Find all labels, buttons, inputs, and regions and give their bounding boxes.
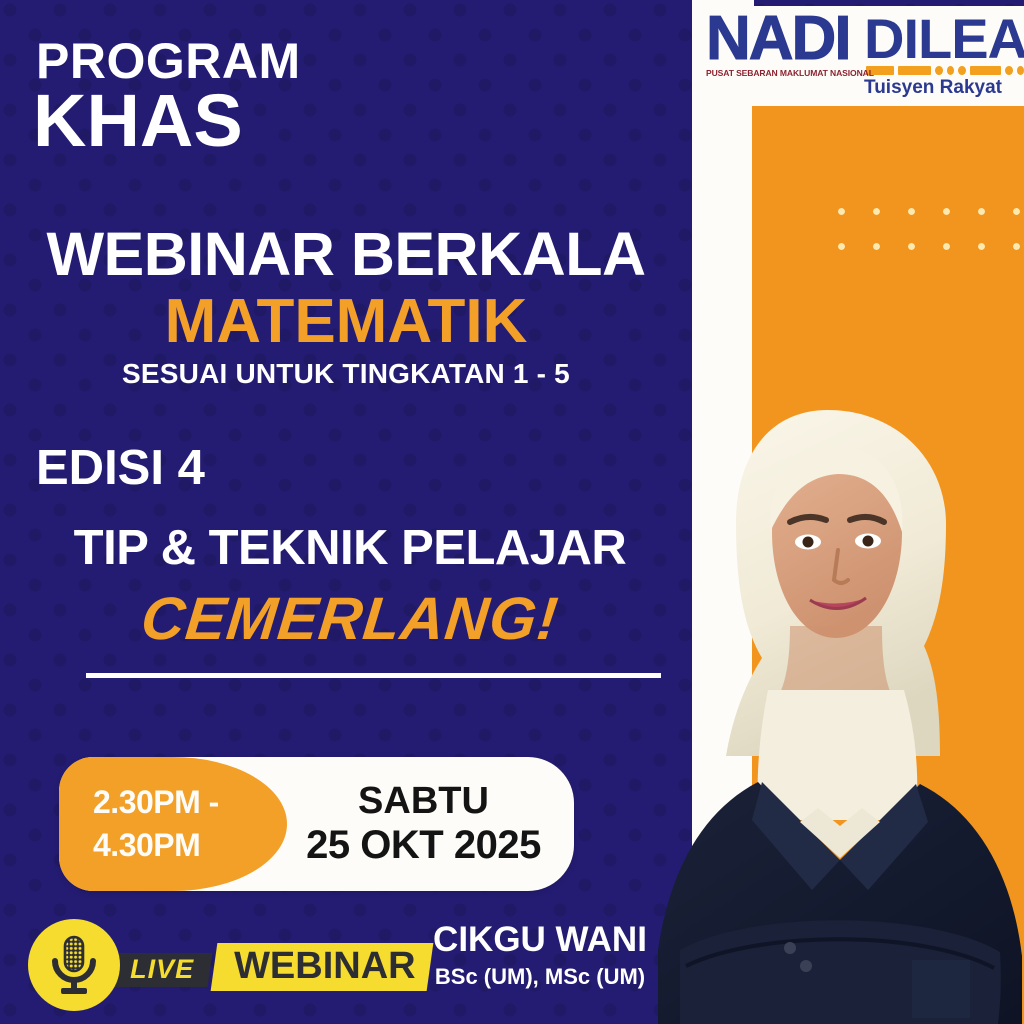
edition-highlight: CEMERLANG! xyxy=(0,584,704,653)
audience-note: SESUAI UNTUK TINGKATAN 1 - 5 xyxy=(0,358,692,390)
dilea-wordmark: DILEA xyxy=(864,12,1024,65)
schedule-pill: 2.30PM - 4.30PM SABTU 25 OKT 2025 xyxy=(59,757,574,891)
webinar-poster: NADI PUSAT SEBARAN MAKLUMAT NASIONAL DIL… xyxy=(0,0,1024,1024)
nadi-logo: NADI PUSAT SEBARAN MAKLUMAT NASIONAL xyxy=(706,10,858,78)
logo-bar: NADI PUSAT SEBARAN MAKLUMAT NASIONAL DIL… xyxy=(700,6,1024,106)
subject-title: MATEMATIK xyxy=(0,286,692,357)
speaker-portrait xyxy=(640,390,1024,1024)
schedule-date-value: 25 OKT 2025 xyxy=(306,823,541,868)
schedule-date: SABTU 25 OKT 2025 xyxy=(287,757,574,891)
live-webinar-text: LIVE WEBINAR xyxy=(108,940,430,991)
schedule-time-line2: 4.30PM xyxy=(93,824,287,867)
speaker-block: CIKGU WANI BSc (UM), MSc (UM) xyxy=(390,920,690,990)
schedule-time: 2.30PM - 4.30PM xyxy=(59,757,287,891)
webinar-title: WEBINAR BERKALA xyxy=(0,219,692,289)
edition-topic: TIP & TEKNIK PELAJAR xyxy=(0,520,700,576)
horizontal-rule xyxy=(86,673,661,678)
dilea-logo: DILEA Tuisyen Rakyat xyxy=(864,10,1024,99)
live-tag-label: LIVE xyxy=(130,954,194,985)
edition-label: EDISI 4 xyxy=(36,440,205,496)
schedule-day: SABTU xyxy=(358,780,489,823)
nadi-wordmark: NADI xyxy=(706,10,858,67)
speaker-name: CIKGU WANI xyxy=(390,920,690,960)
dot-grid-decoration xyxy=(822,192,1022,270)
speaker-credentials: BSc (UM), MSc (UM) xyxy=(390,964,690,990)
dilea-tagline: Tuisyen Rakyat xyxy=(864,77,1024,99)
webinar-tag-label: WEBINAR xyxy=(235,945,417,988)
khas-label: KHAS xyxy=(33,84,243,158)
live-webinar-badge: LIVE WEBINAR xyxy=(28,919,430,1011)
nadi-tagline: PUSAT SEBARAN MAKLUMAT NASIONAL xyxy=(706,68,861,78)
microphone-icon xyxy=(28,919,120,1011)
schedule-time-line1: 2.30PM - xyxy=(93,781,287,824)
live-tag: LIVE xyxy=(106,953,213,987)
